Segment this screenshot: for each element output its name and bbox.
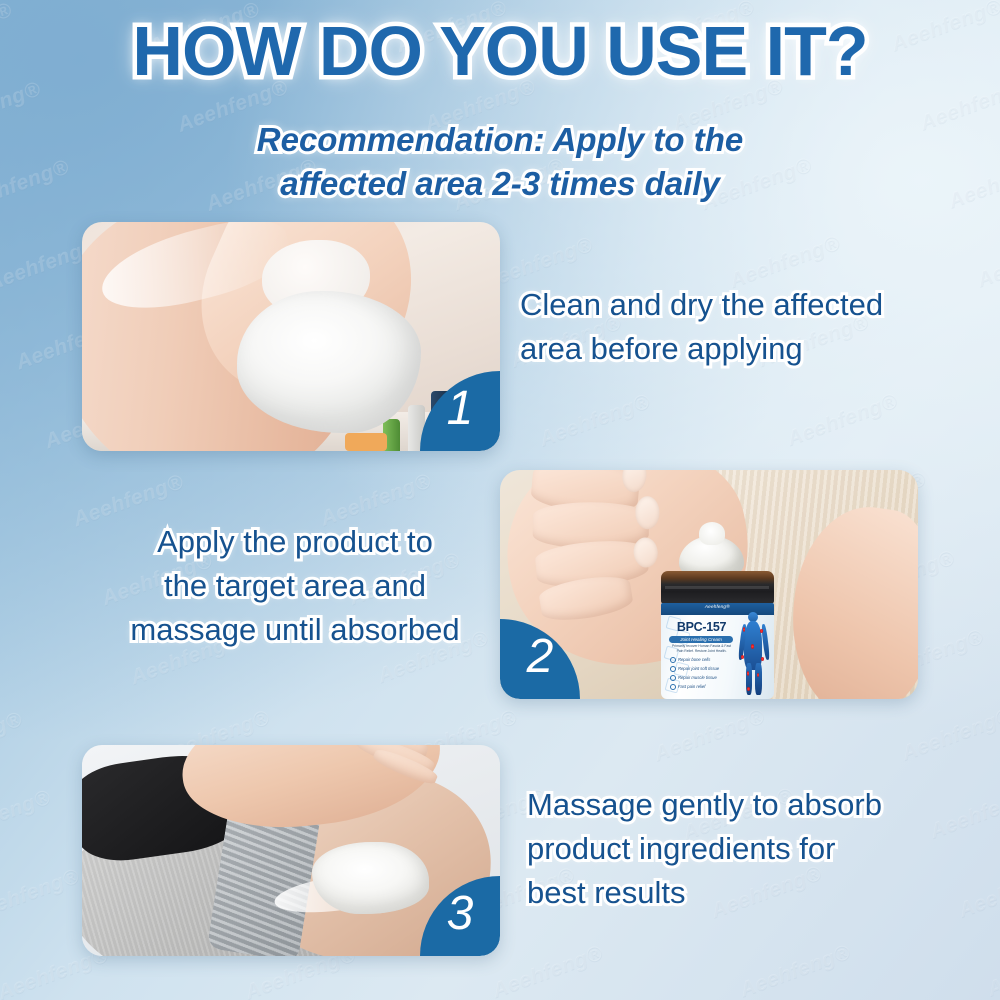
check-icon [670,675,676,681]
product-jar: Aeehfeng® BPC-157 Joint Healing Cream Pr… [661,571,774,699]
watermark-text: Aeehfeng® [0,707,26,769]
watermark-text: Aeehfeng® [0,865,83,927]
step-1-line-1: Clean and dry the affected [520,283,950,327]
step-1-text: Clean and dry the affected area before a… [520,283,950,371]
watermark-text: Aeehfeng® [651,704,768,766]
watermark-text: Aeehfeng® [537,390,654,452]
step-2-line-2: the target area and [100,564,490,608]
step-2-photo: Aeehfeng® BPC-157 Joint Healing Cream Pr… [500,470,918,699]
step-2-line-3: massage until absorbed [100,608,490,652]
step-2-line-1: Apply the product to [100,520,490,564]
jar-lid [661,571,774,604]
jar-description: Primarily recover Human Fascia & Fast Pa… [669,644,734,654]
watermark-text: Aeehfeng® [490,941,607,1000]
human-body-figure-icon [734,611,772,696]
watermark-text: Aeehfeng® [737,940,854,1000]
watermark-text: Aeehfeng® [984,939,1000,1000]
watermark-text: Aeehfeng® [784,389,901,451]
subtitle-line-1: Recommendation: Apply to the [0,118,1000,162]
jar-benefit-item: Repair muscle tissue [670,675,735,681]
step-3-line-3: best results [527,871,947,915]
page-title: HOW DO YOU USE IT? [0,16,1000,86]
infographic-poster: Aeehfeng®Aeehfeng®Aeehfeng®Aeehfeng®Aeeh… [0,0,1000,1000]
check-icon [670,666,676,672]
step-3-number: 3 [447,890,474,938]
jar-product-name: BPC-157 [667,620,737,634]
step-2-text: Apply the product to the target area and… [100,520,490,652]
step-3-text: Massage gently to absorb product ingredi… [527,783,947,915]
jar-benefit-item: Fast pain relief [670,684,735,690]
jar-label: Aeehfeng® BPC-157 Joint Healing Cream Pr… [661,603,774,699]
subtitle-line-2: affected area 2-3 times daily [0,162,1000,206]
recommendation-subtitle: Recommendation: Apply to the affected ar… [0,118,1000,205]
step-1-photo: 1 [82,222,500,451]
step-1-number: 1 [447,385,474,433]
step-3-line-1: Massage gently to absorb [527,783,947,827]
check-icon [670,684,676,690]
step-2-number: 2 [527,633,554,681]
jar-benefit-item: Repair joint soft tissue [670,666,735,672]
watermark-text: Aeehfeng® [0,786,54,848]
jar-benefits-list: Repair bone cells Repair joint soft tiss… [670,657,735,693]
jar-benefit-item: Repair bone cells [670,657,735,663]
watermark-text: Aeehfeng® [956,861,1000,923]
watermark-text: Aeehfeng® [899,703,1000,765]
watermark-text: Aeehfeng® [974,230,1000,292]
jar-product-subtitle: Joint Healing Cream [669,636,733,643]
check-icon [670,657,676,663]
jar-brand: Aeehfeng® [661,604,774,609]
step-3-line-2: product ingredients for [527,827,947,871]
step-3-photo: 3 [82,745,500,956]
step-1-line-2: area before applying [520,327,950,371]
